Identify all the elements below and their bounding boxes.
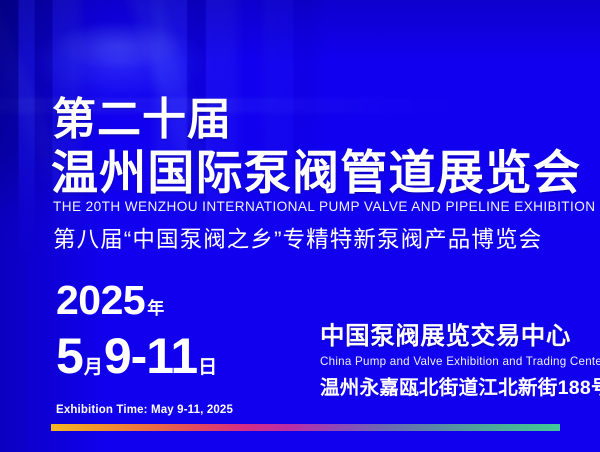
date-days-value: 9-11 [104,328,197,384]
venue-block: 中国泵阀展览交易中心 China Pump and Valve Exhibiti… [320,322,600,400]
poster-title-english: THE 20TH WENZHOU INTERNATIONAL PUMP VALV… [53,199,595,215]
venue-name-english: China Pump and Valve Exhibition and Trad… [320,355,600,369]
date-year-row: 2025年 [56,278,233,331]
poster-title-edition: 第二十届 [52,95,232,145]
date-month-unit: 月 [84,357,103,378]
date-month-day-row: 5月9-11日 [56,329,233,395]
date-year-unit: 年 [147,299,164,318]
date-month-value: 5 [56,328,83,384]
venue-address: 温州永嘉瓯北街道江北新街188号 [320,376,600,400]
poster-subtitle: 第八届“中国泵阀之乡”专精特新泵阀产品博览会 [53,226,542,254]
poster-title-main: 温州国际泵阀管道展览会 [51,147,581,199]
date-year-value: 2025 [56,277,145,323]
venue-name-chinese: 中国泵阀展览交易中心 [320,322,600,352]
exhibition-time-english: Exhibition Time: May 9-11, 2025 [56,403,233,417]
date-day-unit: 日 [198,357,217,378]
exhibition-poster: 第二十届 温州国际泵阀管道展览会 THE 20TH WENZHOU INTERN… [0,0,600,452]
poster-content: 第二十届 温州国际泵阀管道展览会 THE 20TH WENZHOU INTERN… [0,0,600,452]
gradient-accent-bar [51,424,560,431]
exhibition-date-block: 2025年 5月9-11日 Exhibition Time: May 9-11,… [56,278,233,417]
